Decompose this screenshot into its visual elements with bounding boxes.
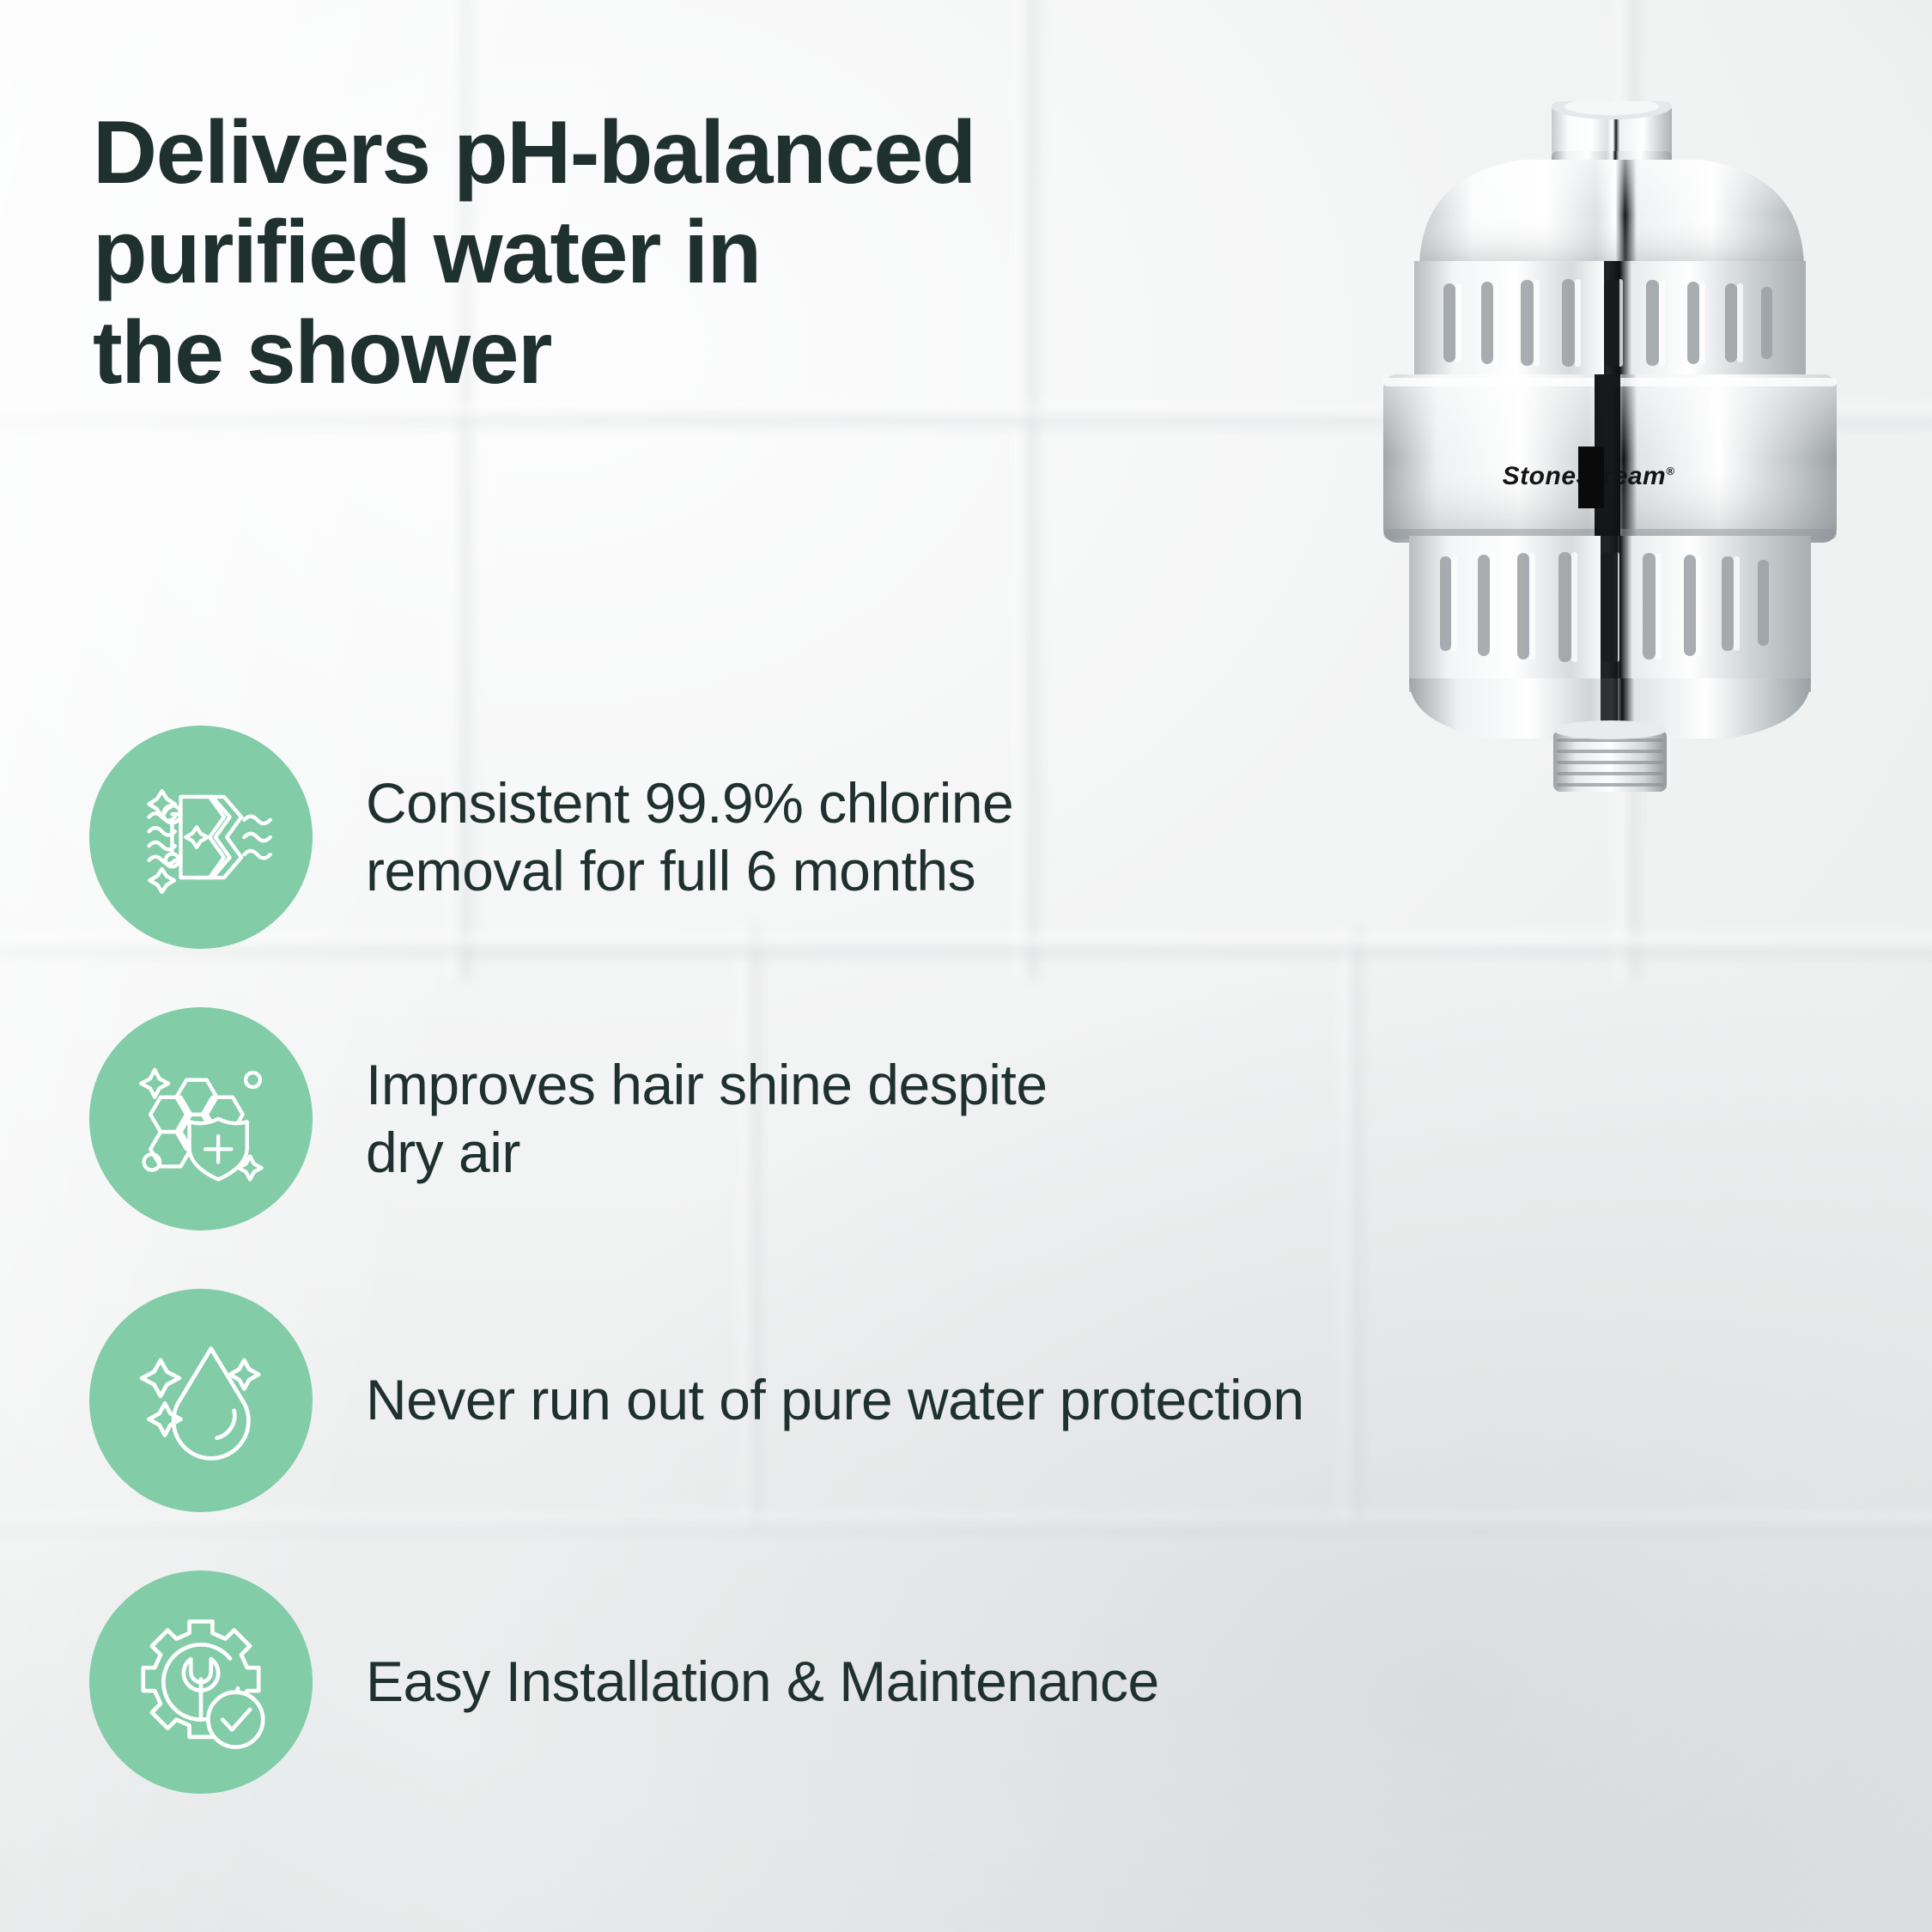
chrome-reflection-stripe	[1578, 447, 1604, 508]
molecule-shield-icon	[89, 1007, 313, 1230]
gear-wrench-check-icon	[89, 1571, 313, 1794]
feature-label: Improves hair shine despite dry air	[366, 1051, 1048, 1187]
feature-list: Consistent 99.9% chlorine removal for fu…	[89, 726, 1824, 1794]
product-feature-banner: Delivers pH-balanced purified water in t…	[0, 0, 1932, 1932]
feature-item: Improves hair shine despite dry air	[89, 1007, 1824, 1230]
feature-item: Easy Installation & Maintenance	[89, 1571, 1824, 1794]
product-image-chrome-shower-filter	[1361, 101, 1859, 797]
feature-label: Consistent 99.9% chlorine removal for fu…	[366, 769, 1013, 905]
feature-item: Never run out of pure water protection	[89, 1289, 1824, 1512]
feature-label: Never run out of pure water protection	[366, 1366, 1304, 1434]
multi-layer-filtration-icon	[89, 726, 313, 949]
page-title: Delivers pH-balanced purified water in t…	[93, 103, 1020, 403]
feature-label: Easy Installation & Maintenance	[366, 1648, 1159, 1716]
sparkling-water-drop-icon	[89, 1289, 313, 1512]
